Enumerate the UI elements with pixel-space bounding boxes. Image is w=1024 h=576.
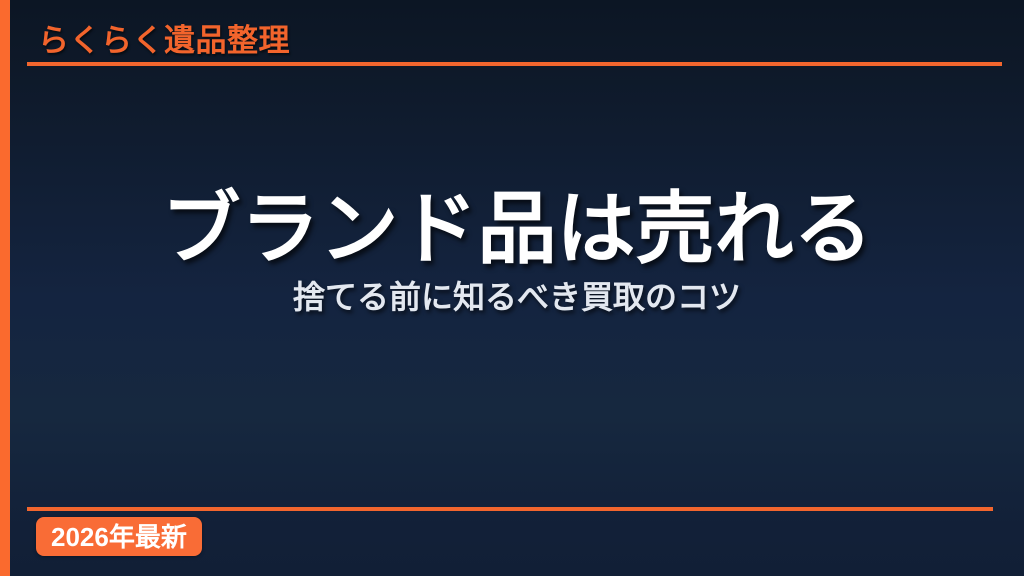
date-badge-label: 2026年最新 [51,524,187,550]
title-group: ブランド品は売れる 捨てる前に知るべき買取のコツ [162,186,873,319]
footer-divider-line [27,507,993,511]
subtitle: 捨てる前に知るべき買取のコツ [293,277,741,319]
main-title: ブランド品は売れる [162,186,873,271]
slide-body: ブランド品は売れる 捨てる前に知るべき買取のコツ [10,66,1024,506]
header-divider-line [27,62,1002,66]
presentation-slide: らくらく遺品整理 ブランド品は売れる 捨てる前に知るべき買取のコツ 2026年最… [0,0,1024,576]
left-accent-bar [0,0,10,576]
date-badge: 2026年最新 [36,517,202,556]
brand-title: らくらく遺品整理 [38,25,290,56]
slide-header: らくらく遺品整理 [38,18,290,62]
